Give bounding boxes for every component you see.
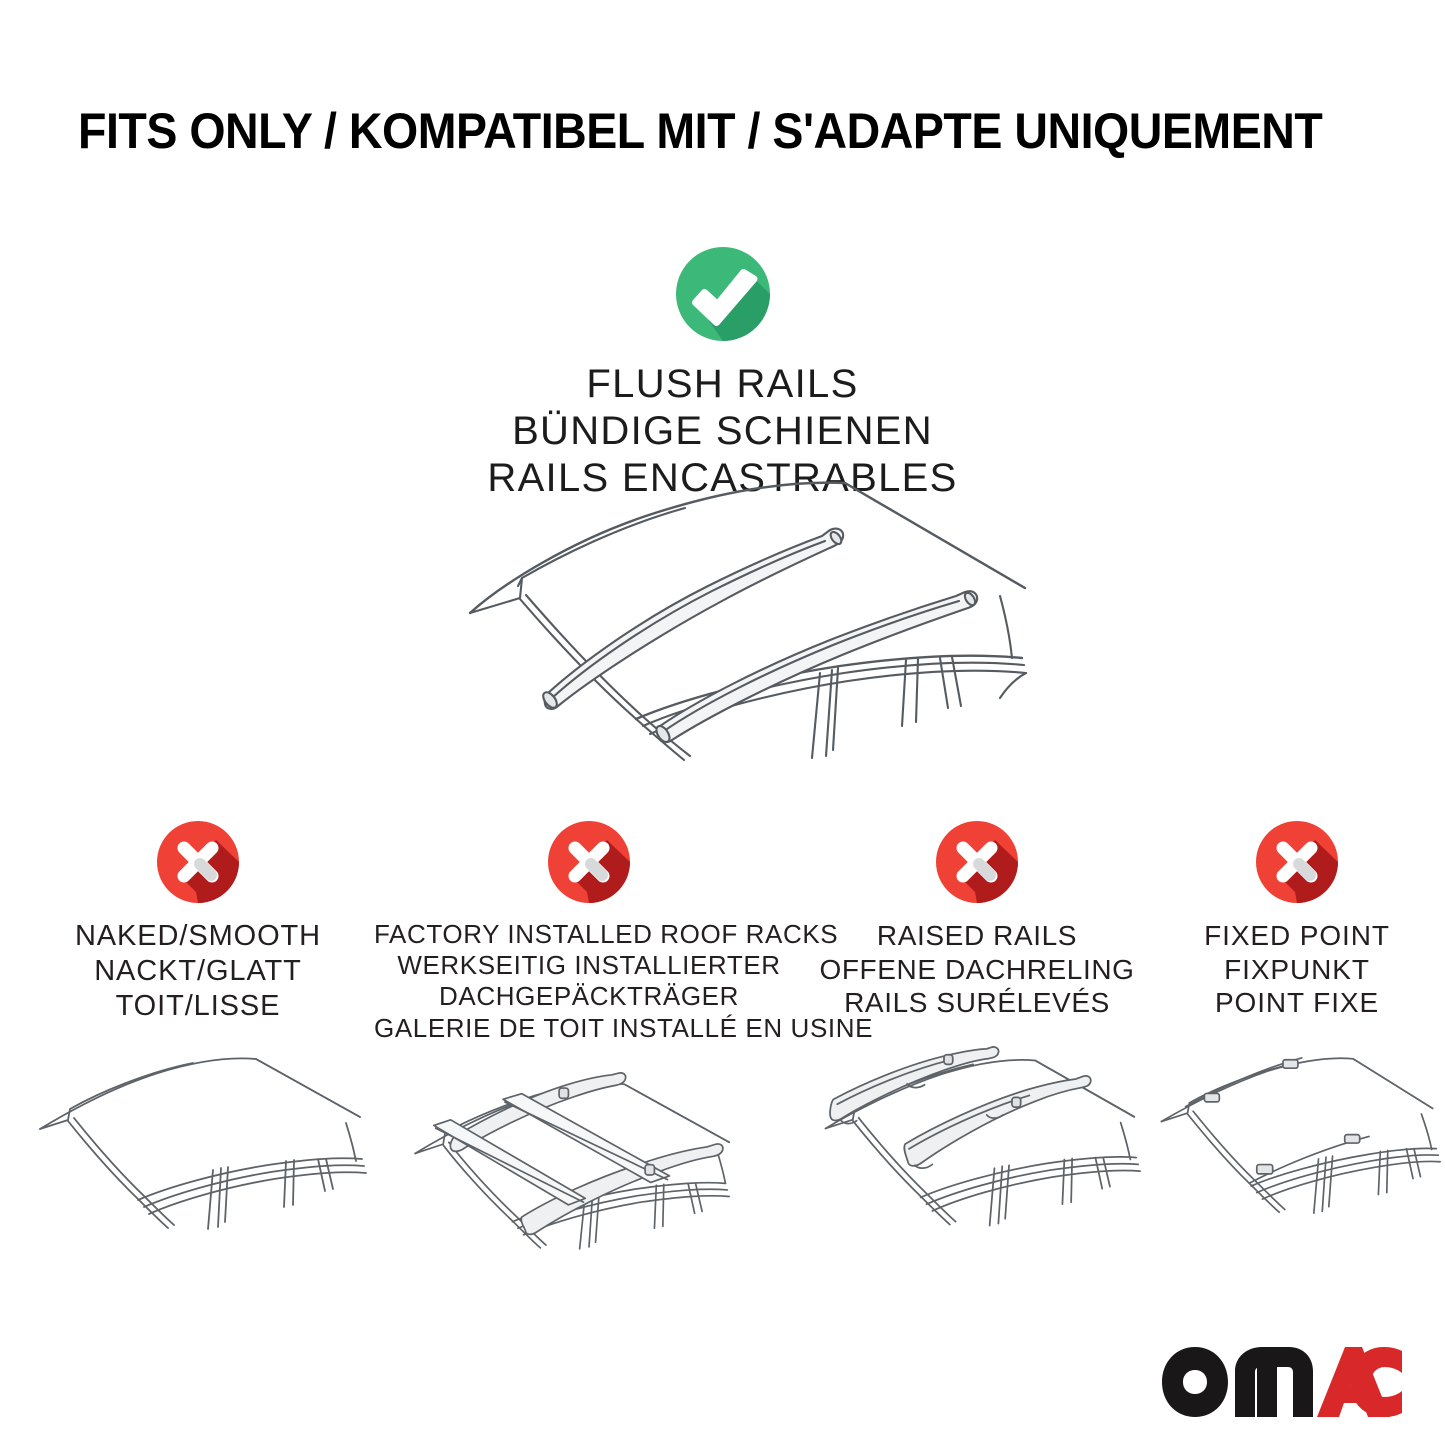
- rejected-labels: RAISED RAILS OFFENE DACHRELING RAILS SUR…: [812, 919, 1142, 1020]
- rejected-item-factory-racks: FACTORY INSTALLED ROOF RACKS WERKSEITIG …: [374, 820, 804, 1275]
- label-fr: POINT FIXE: [1152, 986, 1442, 1020]
- car-roof-raised-rails-illustration: [812, 1036, 1142, 1251]
- rejected-labels: FACTORY INSTALLED ROOF RACKS WERKSEITIG …: [374, 919, 804, 1044]
- rejected-labels: NAKED/SMOOTH NACKT/GLATT TOIT/LISSE: [28, 919, 368, 1023]
- label-fr: GALERIE DE TOIT INSTALLÉ EN USINE: [374, 1013, 804, 1044]
- rejected-item-raised-rails: RAISED RAILS OFFENE DACHRELING RAILS SUR…: [812, 820, 1142, 1251]
- label-de-line1: WERKSEITIG INSTALLIERTER: [374, 950, 804, 981]
- label-de: NACKT/GLATT: [28, 954, 368, 989]
- approved-label-en: FLUSH RAILS: [0, 361, 1445, 408]
- label-fr: RAILS SURÉLEVÉS: [812, 986, 1142, 1020]
- rejected-item-naked-smooth: NAKED/SMOOTH NACKT/GLATT TOIT/LISSE: [28, 820, 368, 1254]
- car-roof-naked-illustration: [28, 1039, 368, 1254]
- rejected-section: NAKED/SMOOTH NACKT/GLATT TOIT/LISSE: [0, 820, 1445, 1250]
- red-x-circle-icon: [156, 820, 240, 904]
- car-roof-flush-rails-illustration: [440, 468, 1030, 788]
- label-en: FIXED POINT: [1152, 919, 1442, 953]
- label-de-line2: DACHGEPÄCKTRÄGER: [374, 981, 804, 1012]
- label-de: FIXPUNKT: [1152, 953, 1442, 987]
- rejected-item-fixed-point: FIXED POINT FIXPUNKT POINT FIXE: [1152, 820, 1442, 1251]
- label-en: RAISED RAILS: [812, 919, 1142, 953]
- red-x-circle-icon: [547, 820, 631, 904]
- approved-label-de: BÜNDIGE SCHIENEN: [0, 408, 1445, 455]
- car-roof-factory-racks-illustration: [374, 1060, 804, 1275]
- rejected-labels: FIXED POINT FIXPUNKT POINT FIXE: [1152, 919, 1442, 1020]
- label-en: NAKED/SMOOTH: [28, 919, 368, 954]
- approved-section: FLUSH RAILS BÜNDIGE SCHIENEN RAILS ENCAS…: [0, 246, 1445, 503]
- label-fr: TOIT/LISSE: [28, 989, 368, 1024]
- omac-logo: [1157, 1341, 1407, 1425]
- car-roof-fixed-point-illustration: [1152, 1036, 1442, 1251]
- red-x-circle-icon: [1255, 820, 1339, 904]
- red-x-circle-icon: [935, 820, 1019, 904]
- green-check-circle-icon: [675, 246, 771, 342]
- page-title: FITS ONLY / KOMPATIBEL MIT / S'ADAPTE UN…: [78, 104, 1287, 159]
- label-de: OFFENE DACHRELING: [812, 953, 1142, 987]
- label-en: FACTORY INSTALLED ROOF RACKS: [374, 919, 804, 950]
